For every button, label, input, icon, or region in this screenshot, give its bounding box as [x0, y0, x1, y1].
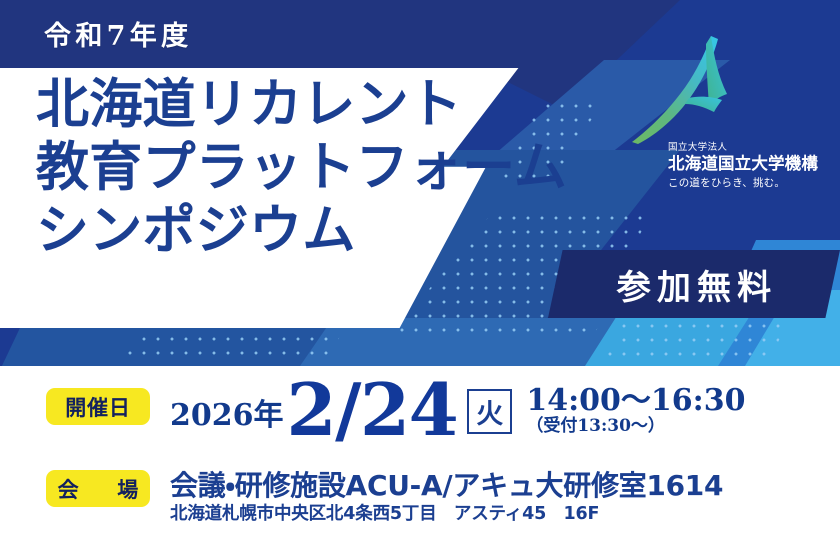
free-admission-label: 参加無料 [548, 250, 840, 318]
event-details: 開催日 2026年 2/24 火 14:00〜16:30 （受付13:30〜） … [0, 366, 840, 560]
logo-org-name: 北海道国立大学機構 [668, 154, 818, 175]
time-group: 14:00〜16:30 （受付13:30〜） [526, 385, 745, 438]
symposium-poster: 令和7年度 北海道リカレント 教育プラットフォーム シンポジウム [0, 0, 840, 560]
logo-text-block: 国立大学法人 北海道国立大学機構 この道をひらき、挑む。 [668, 142, 818, 192]
page-title: 北海道リカレント 教育プラットフォーム シンポジウム [36, 78, 567, 257]
logo-org-prefix: 国立大学法人 [668, 142, 818, 154]
time-main: 14:00〜16:30 [526, 385, 745, 417]
venue-address: 北海道札幌市中央区北4条西5丁目 アスティ45 16F [170, 503, 723, 526]
decorative-dot-pattern-4 [600, 316, 790, 366]
title-line-2: 教育プラットフォーム [36, 141, 567, 194]
time-reception: （受付13:30〜） [526, 416, 745, 437]
logo-tagline: この道をひらき、挑む。 [668, 176, 818, 192]
date-year: 2026年 [170, 401, 284, 431]
venue-row: 会 場 会議・研修施設ACU-A/アキュ大研修室1614 北海道札幌市中央区北4… [46, 470, 723, 526]
date-tag: 開催日 [46, 388, 150, 425]
date-day: 2/24 [287, 378, 458, 441]
date-row: 開催日 2026年 2/24 火 14:00〜16:30 （受付13:30〜） [46, 378, 745, 441]
organization-logo: 国立大学法人 北海道国立大学機構 この道をひらき、挑む。 [600, 34, 836, 184]
venue-name: 会議・研修施設ACU-A/アキュ大研修室1614 [170, 470, 723, 501]
date-weekday: 火 [467, 389, 512, 434]
venue-value-group: 会議・研修施設ACU-A/アキュ大研修室1614 北海道札幌市中央区北4条西5丁… [170, 470, 723, 526]
date-value-group: 2026年 2/24 火 14:00〜16:30 （受付13:30〜） [170, 378, 745, 441]
title-line-3: シンポジウム [36, 204, 567, 257]
venue-tag: 会 場 [46, 470, 150, 507]
free-admission-badge: 参加無料 [548, 250, 840, 318]
university-swoosh-icon [630, 34, 750, 144]
title-line-1: 北海道リカレント [36, 78, 567, 131]
era-label: 令和7年度 [44, 14, 192, 53]
